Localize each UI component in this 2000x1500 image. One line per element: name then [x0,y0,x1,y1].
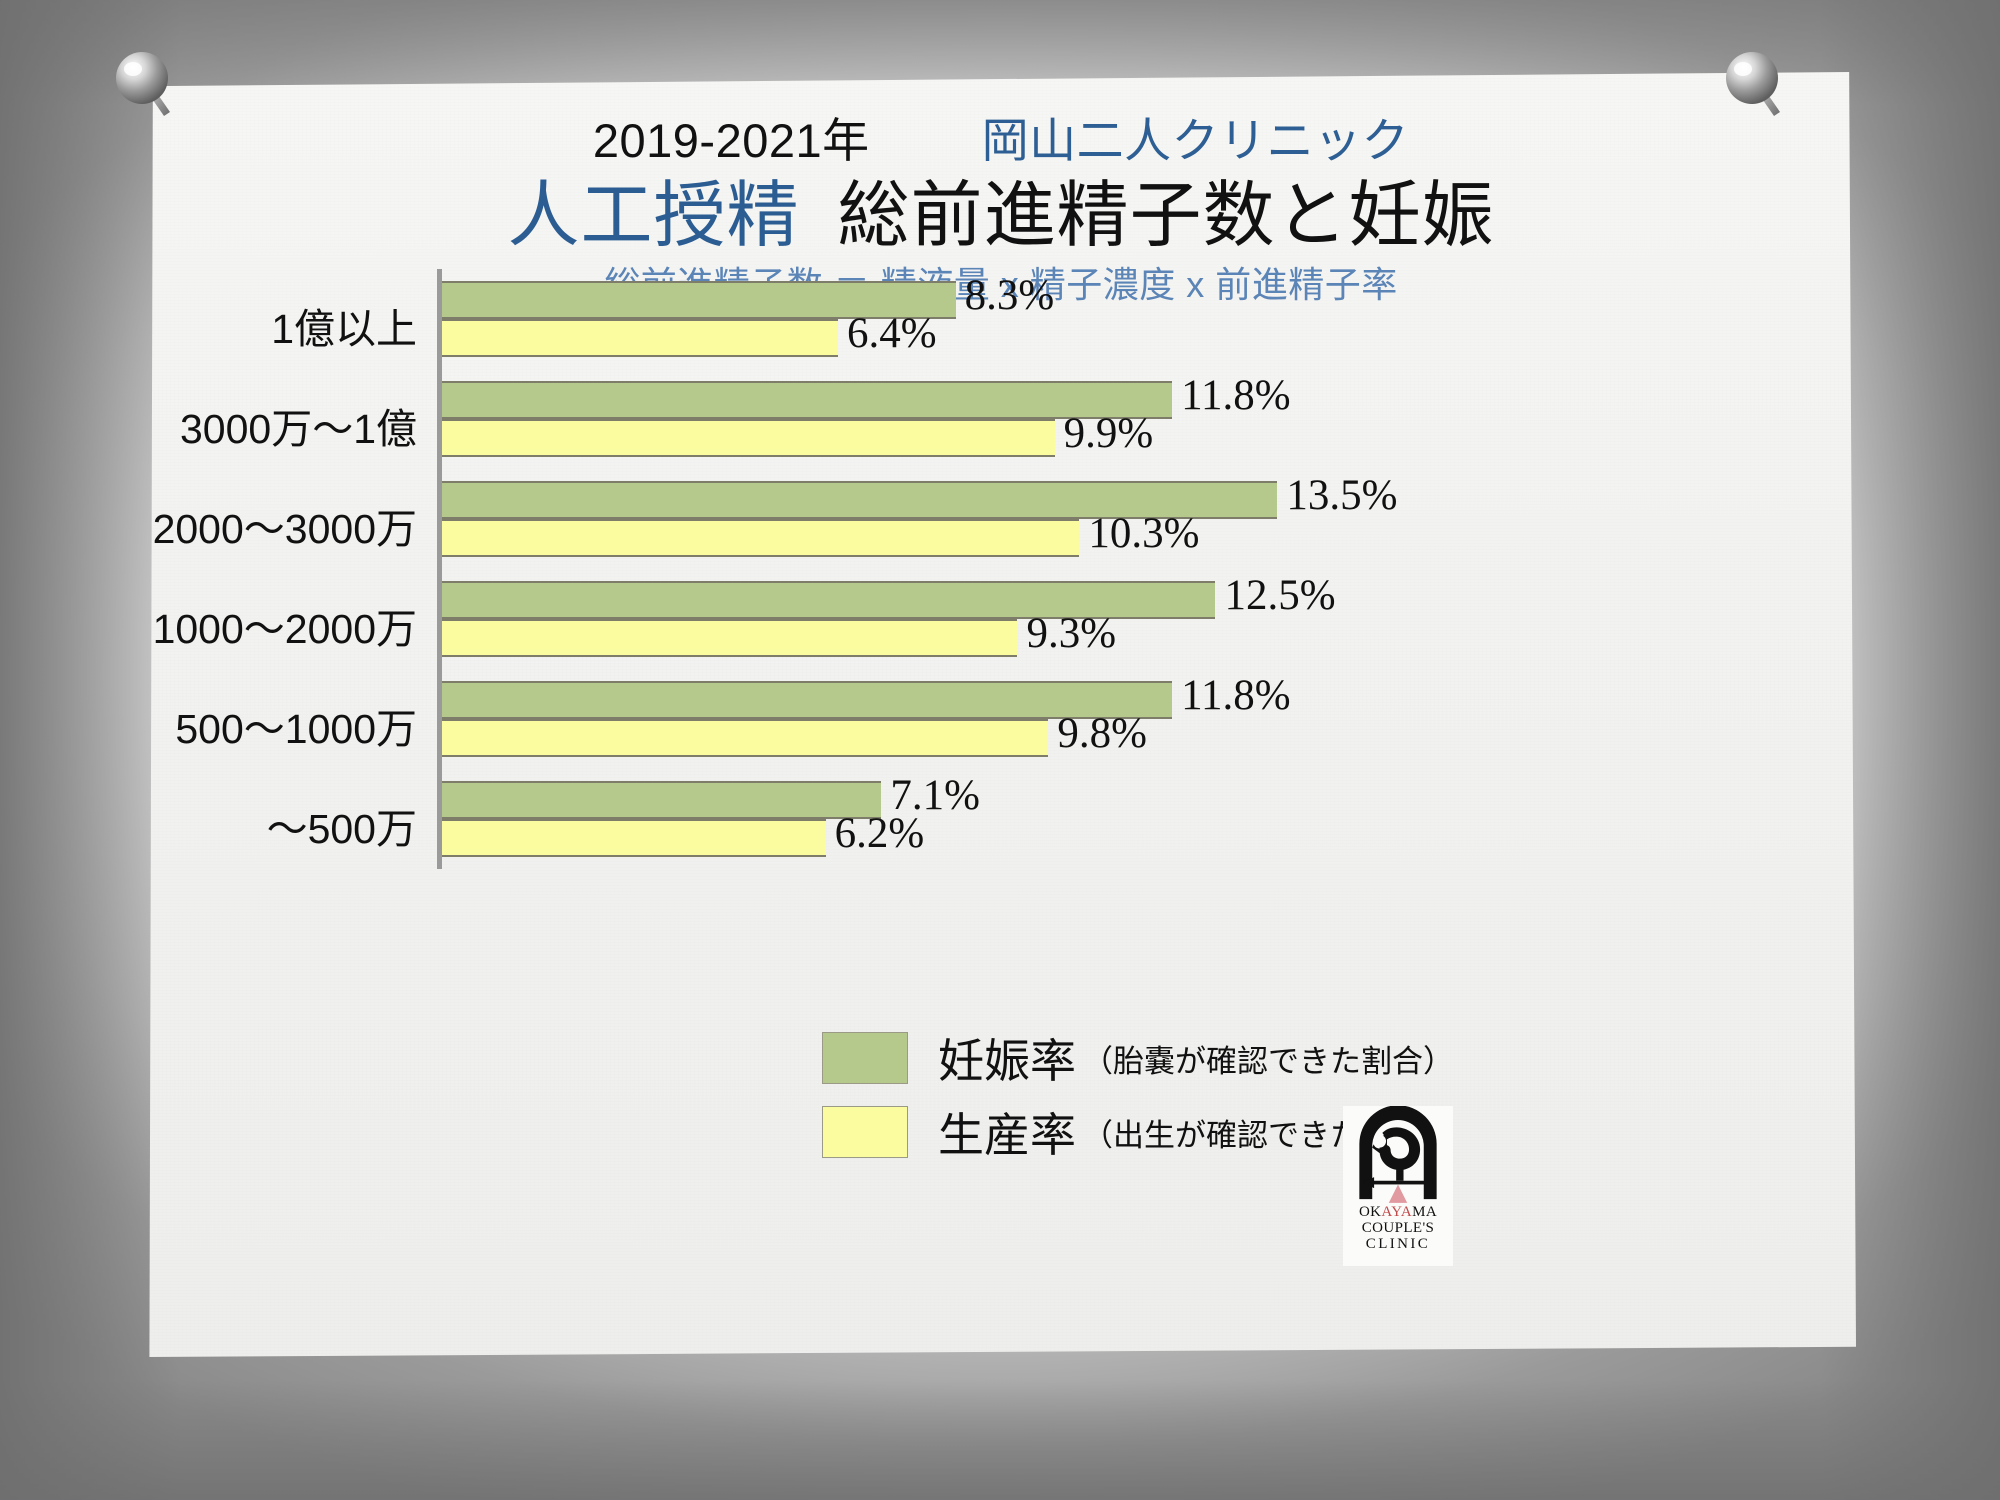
bar-value-label: 6.4% [847,315,937,353]
logo-line-1-post: MA [1412,1204,1437,1220]
category-label: 〜500万 [137,795,417,855]
logo-line-1-mid: AYA [1381,1204,1412,1220]
bar-value-label: 13.5% [1286,477,1397,515]
y-axis-line [437,269,442,869]
category-label: 500〜1000万 [137,695,417,755]
category-label-wrap: 1億以上 [137,295,417,355]
category-label: 2000〜3000万 [137,495,417,555]
legend-item-pregnancy: 妊娠率 （胎嚢が確認できた割合） [822,1027,1454,1089]
category-label: 1億以上 [137,295,417,355]
poster-canvas: 2019-2021年岡山二人クリニック 人工授精総前進精子数と妊娠 総前進精子数… [146,72,1856,1357]
bar-value-label: 9.8% [1057,715,1147,753]
bar-value-label: 11.8% [1181,377,1290,415]
clinic-logo: OKAYAMA COUPLE'S CLINIC [1343,1106,1453,1266]
bar-value-label: 6.2% [835,815,925,853]
logo-line-1: OKAYAMA [1359,1204,1437,1220]
page-title: 人工授精総前進精子数と妊娠 [146,156,1856,261]
category-label-wrap: 〜500万 [137,795,417,855]
bar-group: 〜500万7.1%6.2% [437,781,1617,857]
category-label: 1000〜2000万 [137,595,417,655]
bar-livebirth [442,319,838,357]
logo-line-2: COUPLE'S [1359,1220,1437,1236]
bar-group: 3000万〜1億11.8%9.9% [437,381,1617,457]
bar-value-label: 11.8% [1181,677,1290,715]
bar-value-label: 10.3% [1088,515,1199,553]
bar-pregnancy [442,781,881,819]
bar-value-label: 8.3% [965,277,1055,315]
stork-logo-icon [1352,1106,1444,1204]
page-title-black: 総前進精子数と妊娠 [838,176,1495,256]
logo-line-1-pre: OK [1359,1204,1381,1220]
bar-livebirth [442,519,1079,557]
legend-swatch-livebirth [822,1106,908,1158]
category-label-wrap: 500〜1000万 [137,695,417,755]
bar-pregnancy [442,381,1172,419]
legend-label-livebirth: 生産率 [938,1099,1076,1165]
bar-value-label: 9.3% [1026,615,1116,653]
bar-group: 500〜1000万11.8%9.8% [437,681,1617,757]
logo-line-3: CLINIC [1359,1236,1437,1252]
legend-sublabel-pregnancy: （胎嚢が確認できた割合） [1082,1036,1454,1081]
bar-group: 1億以上8.3%6.4% [437,281,1617,357]
bar-livebirth [442,819,826,857]
bar-value-label: 9.9% [1064,415,1154,453]
bar-livebirth [442,719,1048,757]
legend-swatch-pregnancy [822,1032,908,1084]
category-label-wrap: 3000万〜1億 [137,395,417,455]
bar-chart-plot-area: 1億以上8.3%6.4%3000万〜1億11.8%9.9%2000〜3000万1… [437,269,1617,869]
bar-livebirth [442,419,1055,457]
bar-value-label: 12.5% [1224,577,1335,615]
logo-text: OKAYAMA COUPLE'S CLINIC [1359,1204,1437,1253]
category-label: 3000万〜1億 [137,395,417,455]
bar-group: 2000〜3000万13.5%10.3% [437,481,1617,557]
category-label-wrap: 2000〜3000万 [137,495,417,555]
category-label-wrap: 1000〜2000万 [137,595,417,655]
bar-group: 1000〜2000万12.5%9.3% [437,581,1617,657]
bar-livebirth [442,619,1017,657]
page-title-blue: 人工授精 [507,176,799,256]
legend-label-pregnancy: 妊娠率 [938,1025,1076,1091]
